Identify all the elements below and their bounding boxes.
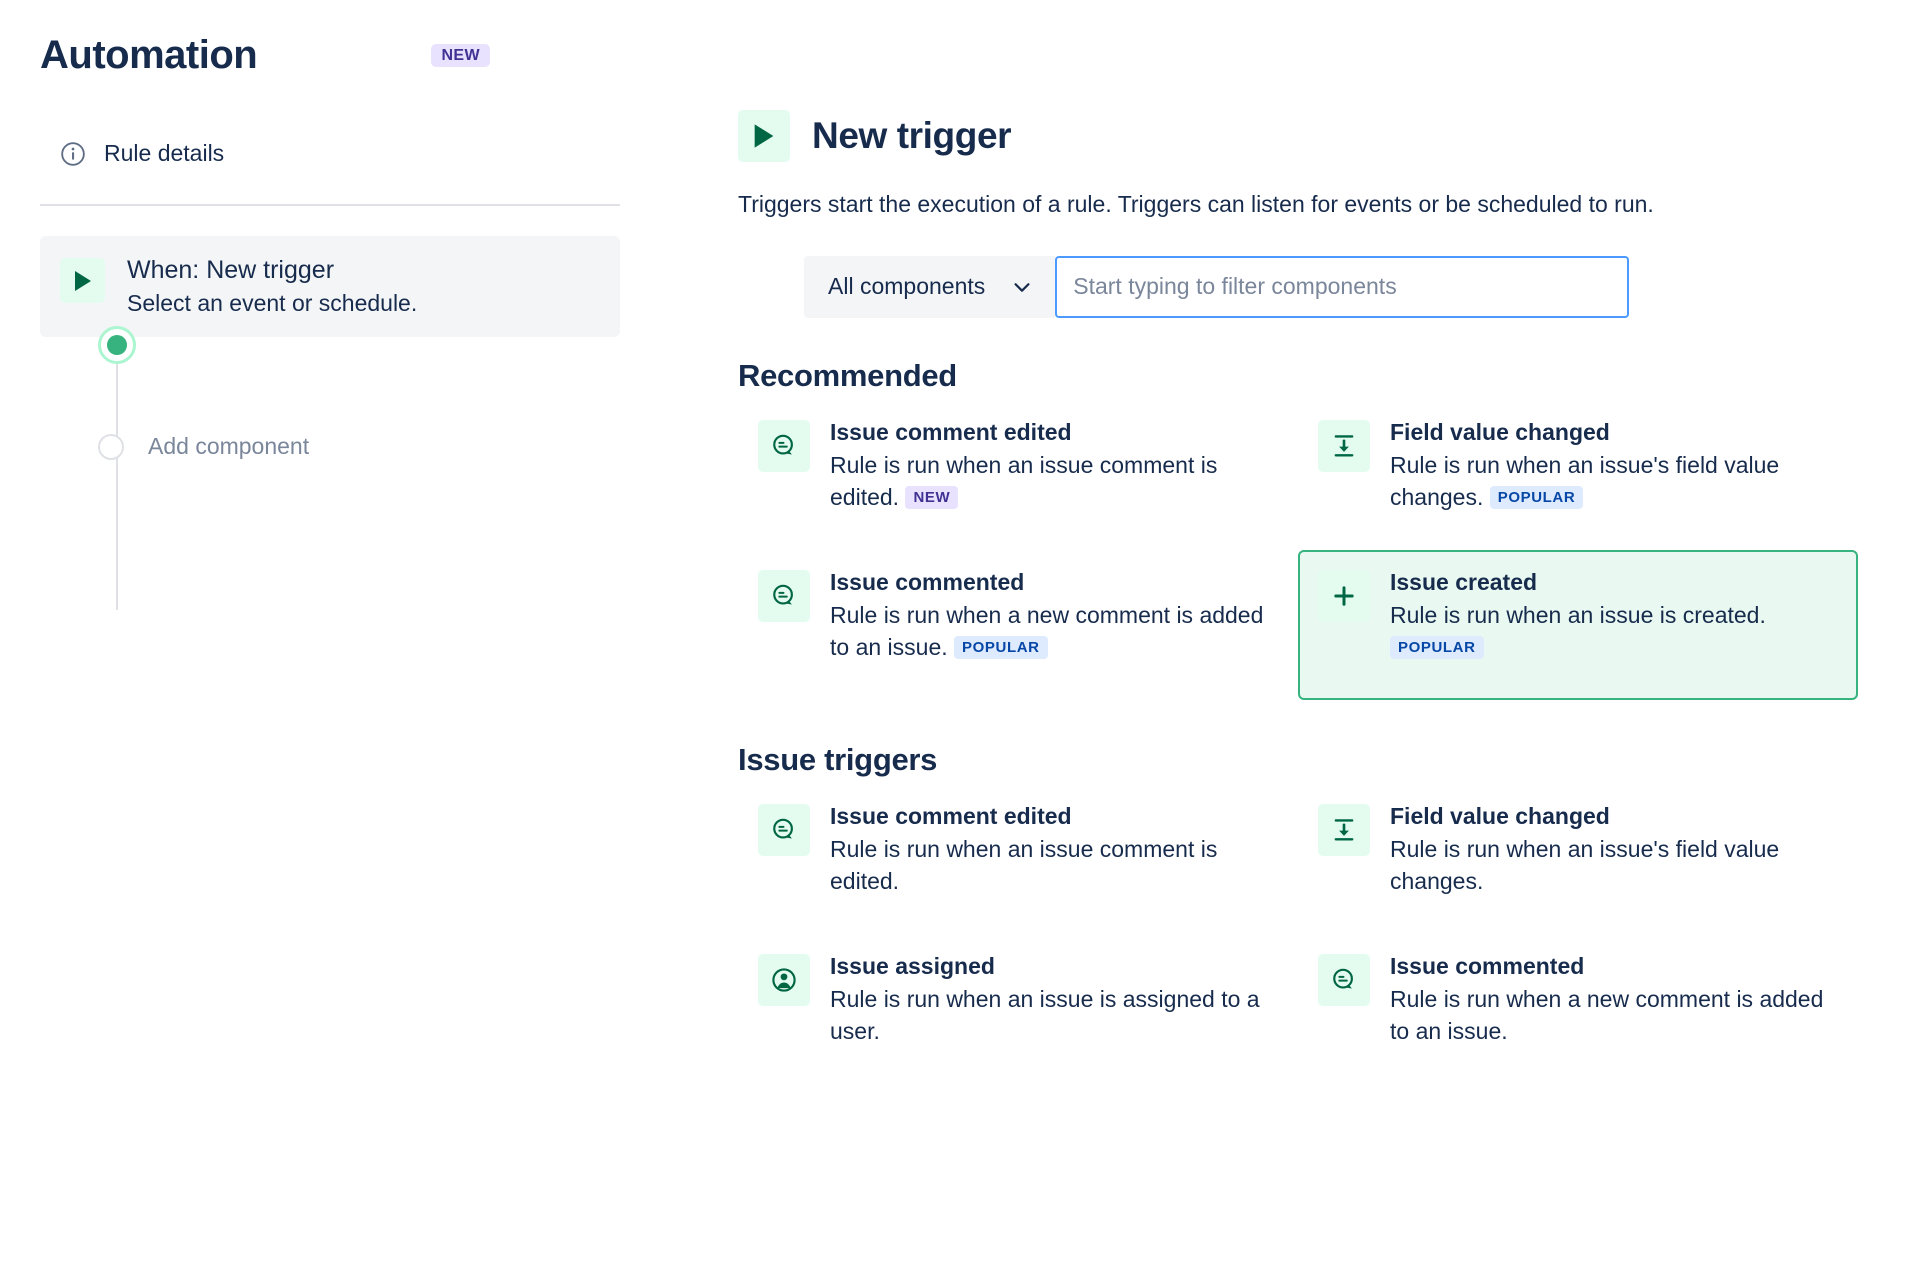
- trigger-card-title: Issue commented: [1390, 952, 1838, 981]
- trigger-card-title: Issue created: [1390, 568, 1838, 597]
- trigger-card-title: Issue commented: [830, 568, 1278, 597]
- trigger-card-body: Issue commented Rule is run when a new c…: [1390, 952, 1838, 1048]
- trigger-card-issue-assigned[interactable]: Issue assigned Rule is run when an issue…: [738, 934, 1298, 1084]
- trigger-card-title: Issue assigned: [830, 952, 1278, 981]
- comment-bubble-icon: [758, 420, 810, 472]
- trigger-card-pill: POPULAR: [954, 636, 1048, 658]
- component-type-dropdown[interactable]: All components: [804, 256, 1055, 318]
- chevron-down-icon: [1011, 276, 1033, 298]
- flow-step-subtitle: Select an event or schedule.: [127, 290, 417, 318]
- trigger-card-body: Issue created Rule is run when an issue …: [1390, 568, 1838, 664]
- sidebar-item-rule-details[interactable]: Rule details: [40, 140, 620, 167]
- flow-add-node-active[interactable]: [98, 326, 136, 364]
- recommended-card-grid: Issue comment edited Rule is run when an…: [738, 400, 1858, 700]
- trigger-card-issue-created[interactable]: Issue created Rule is run when an issue …: [1298, 550, 1858, 700]
- section-heading-issue-triggers: Issue triggers: [738, 742, 1858, 778]
- search-input[interactable]: [1055, 256, 1629, 318]
- play-triangle-icon: [60, 258, 105, 303]
- trigger-card-body: Issue comment edited Rule is run when an…: [830, 802, 1278, 898]
- trigger-picker-panel: New trigger Triggers start the execution…: [660, 0, 1918, 1276]
- dropdown-selected-value: All components: [828, 273, 985, 300]
- component-filter-row: All components: [738, 256, 1858, 318]
- plus-icon: [1318, 570, 1370, 622]
- trigger-card-description-text: Rule is run when an issue comment is edi…: [830, 452, 1217, 511]
- comment-bubble-icon: [1318, 954, 1370, 1006]
- rule-flow: When: New trigger Select an event or sch…: [40, 236, 620, 460]
- search-input-wrapper: [1055, 256, 1629, 318]
- trigger-card-field-value-changed-2[interactable]: Field value changed Rule is run when an …: [1298, 784, 1858, 934]
- field-value-changed-icon: [1318, 420, 1370, 472]
- sidebar-divider: [40, 204, 620, 206]
- trigger-card-title: Issue comment edited: [830, 802, 1278, 831]
- add-component-label: Add component: [148, 433, 309, 460]
- panel-description: Triggers start the execution of a rule. …: [738, 190, 1858, 220]
- status-badge-new: NEW: [431, 44, 490, 67]
- panel-title: New trigger: [812, 116, 1011, 157]
- flow-node-dot: [107, 335, 127, 355]
- left-panel-header: Automation NEW: [40, 32, 620, 78]
- trigger-card-body: Field value changed Rule is run when an …: [1390, 802, 1838, 898]
- trigger-card-body: Field value changed Rule is run when an …: [1390, 418, 1838, 514]
- trigger-card-body: Issue comment edited Rule is run when an…: [830, 418, 1278, 514]
- flow-node-empty-circle: [98, 434, 124, 460]
- trigger-card-pill: POPULAR: [1490, 486, 1584, 508]
- trigger-card-issue-comment-edited[interactable]: Issue comment edited Rule is run when an…: [738, 400, 1298, 550]
- comment-bubble-icon: [758, 804, 810, 856]
- trigger-card-description: Rule is run when a new comment is added …: [830, 599, 1278, 664]
- trigger-card-issue-commented[interactable]: Issue commented Rule is run when a new c…: [738, 550, 1298, 700]
- trigger-card-description: Rule is run when an issue is created. PO…: [1390, 599, 1838, 664]
- trigger-card-issue-comment-edited-2[interactable]: Issue comment edited Rule is run when an…: [738, 784, 1298, 934]
- trigger-card-field-value-changed[interactable]: Field value changed Rule is run when an …: [1298, 400, 1858, 550]
- trigger-card-pill: NEW: [905, 486, 958, 508]
- trigger-card-description: Rule is run when an issue's field value …: [1390, 833, 1838, 898]
- left-rule-panel: Automation NEW Rule details When: [0, 0, 660, 1276]
- comment-bubble-icon: [758, 570, 810, 622]
- flow-step-title: When: New trigger: [127, 256, 417, 286]
- trigger-card-description: Rule is run when a new comment is added …: [1390, 983, 1838, 1048]
- trigger-card-description-text: Rule is run when an issue is created.: [1390, 602, 1766, 628]
- trigger-card-description: Rule is run when an issue is assigned to…: [830, 983, 1278, 1048]
- trigger-card-title: Issue comment edited: [830, 418, 1278, 447]
- trigger-card-pill: POPULAR: [1390, 636, 1484, 658]
- sidebar-item-label: Rule details: [104, 140, 224, 167]
- trigger-card-title: Field value changed: [1390, 418, 1838, 447]
- panel-header: New trigger: [738, 110, 1858, 162]
- trigger-card-body: Issue assigned Rule is run when an issue…: [830, 952, 1278, 1048]
- trigger-card-description: Rule is run when an issue comment is edi…: [830, 449, 1278, 514]
- automation-trigger-picker-page: Automation NEW Rule details When: [0, 0, 1918, 1276]
- info-circle-icon: [60, 141, 86, 167]
- trigger-card-issue-commented-2[interactable]: Issue commented Rule is run when a new c…: [1298, 934, 1858, 1084]
- flow-step-when-new-trigger[interactable]: When: New trigger Select an event or sch…: [40, 236, 620, 337]
- flow-add-component[interactable]: Add component: [40, 433, 620, 460]
- page-title: Automation: [40, 32, 257, 78]
- trigger-card-description: Rule is run when an issue's field value …: [1390, 449, 1838, 514]
- trigger-card-body: Issue commented Rule is run when a new c…: [830, 568, 1278, 664]
- field-value-changed-icon: [1318, 804, 1370, 856]
- trigger-card-title: Field value changed: [1390, 802, 1838, 831]
- trigger-card-description-text: Rule is run when an issue's field value …: [1390, 452, 1779, 511]
- trigger-card-description: Rule is run when an issue comment is edi…: [830, 833, 1278, 898]
- section-heading-recommended: Recommended: [738, 358, 1858, 394]
- issue-triggers-card-grid: Issue comment edited Rule is run when an…: [738, 784, 1858, 1084]
- flow-step-text: When: New trigger Select an event or sch…: [127, 256, 417, 317]
- play-triangle-icon: [738, 110, 790, 162]
- person-circle-icon: [758, 954, 810, 1006]
